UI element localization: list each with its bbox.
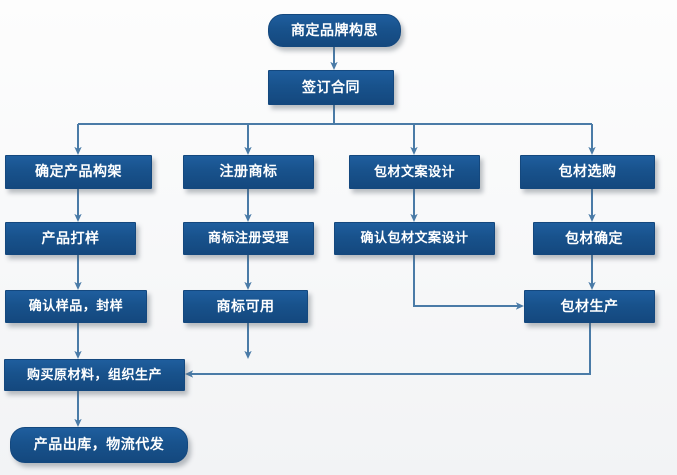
node-packaging-production[interactable]: 包材生产 [524, 290, 655, 323]
node-purchase-materials-organize-production[interactable]: 购买原材料，组织生产 [4, 359, 185, 391]
node-trademark-application-accepted[interactable]: 商标注册受理 [183, 222, 314, 255]
edge-packaging-production-to-purchase-material [189, 323, 590, 374]
flowchart-canvas: 商定品牌构思 签订合同 确定产品构架 注册商标 包材文案设计 包材选购 产品打样… [0, 0, 677, 475]
node-trademark-available[interactable]: 商标可用 [183, 290, 308, 323]
node-determine-product-framework[interactable]: 确定产品构架 [5, 155, 152, 189]
node-product-prototype[interactable]: 产品打样 [5, 222, 136, 255]
node-brand-concept[interactable]: 商定品牌构思 [268, 14, 401, 47]
edge-confirm-copy-to-packaging-production [414, 255, 520, 306]
node-sign-contract[interactable]: 签订合同 [268, 70, 394, 105]
node-packaging-copy-design[interactable]: 包材文案设计 [349, 155, 480, 189]
node-product-outbound-logistics-dropship[interactable]: 产品出库，物流代发 [10, 427, 188, 463]
node-confirm-sample-sealing[interactable]: 确认样品，封样 [5, 290, 147, 323]
node-packaging-purchase[interactable]: 包材选购 [520, 155, 655, 189]
node-register-trademark[interactable]: 注册商标 [183, 155, 314, 189]
node-confirm-packaging-copy-design[interactable]: 确认包材文案设计 [334, 222, 495, 255]
node-packaging-confirmed[interactable]: 包材确定 [533, 222, 655, 255]
